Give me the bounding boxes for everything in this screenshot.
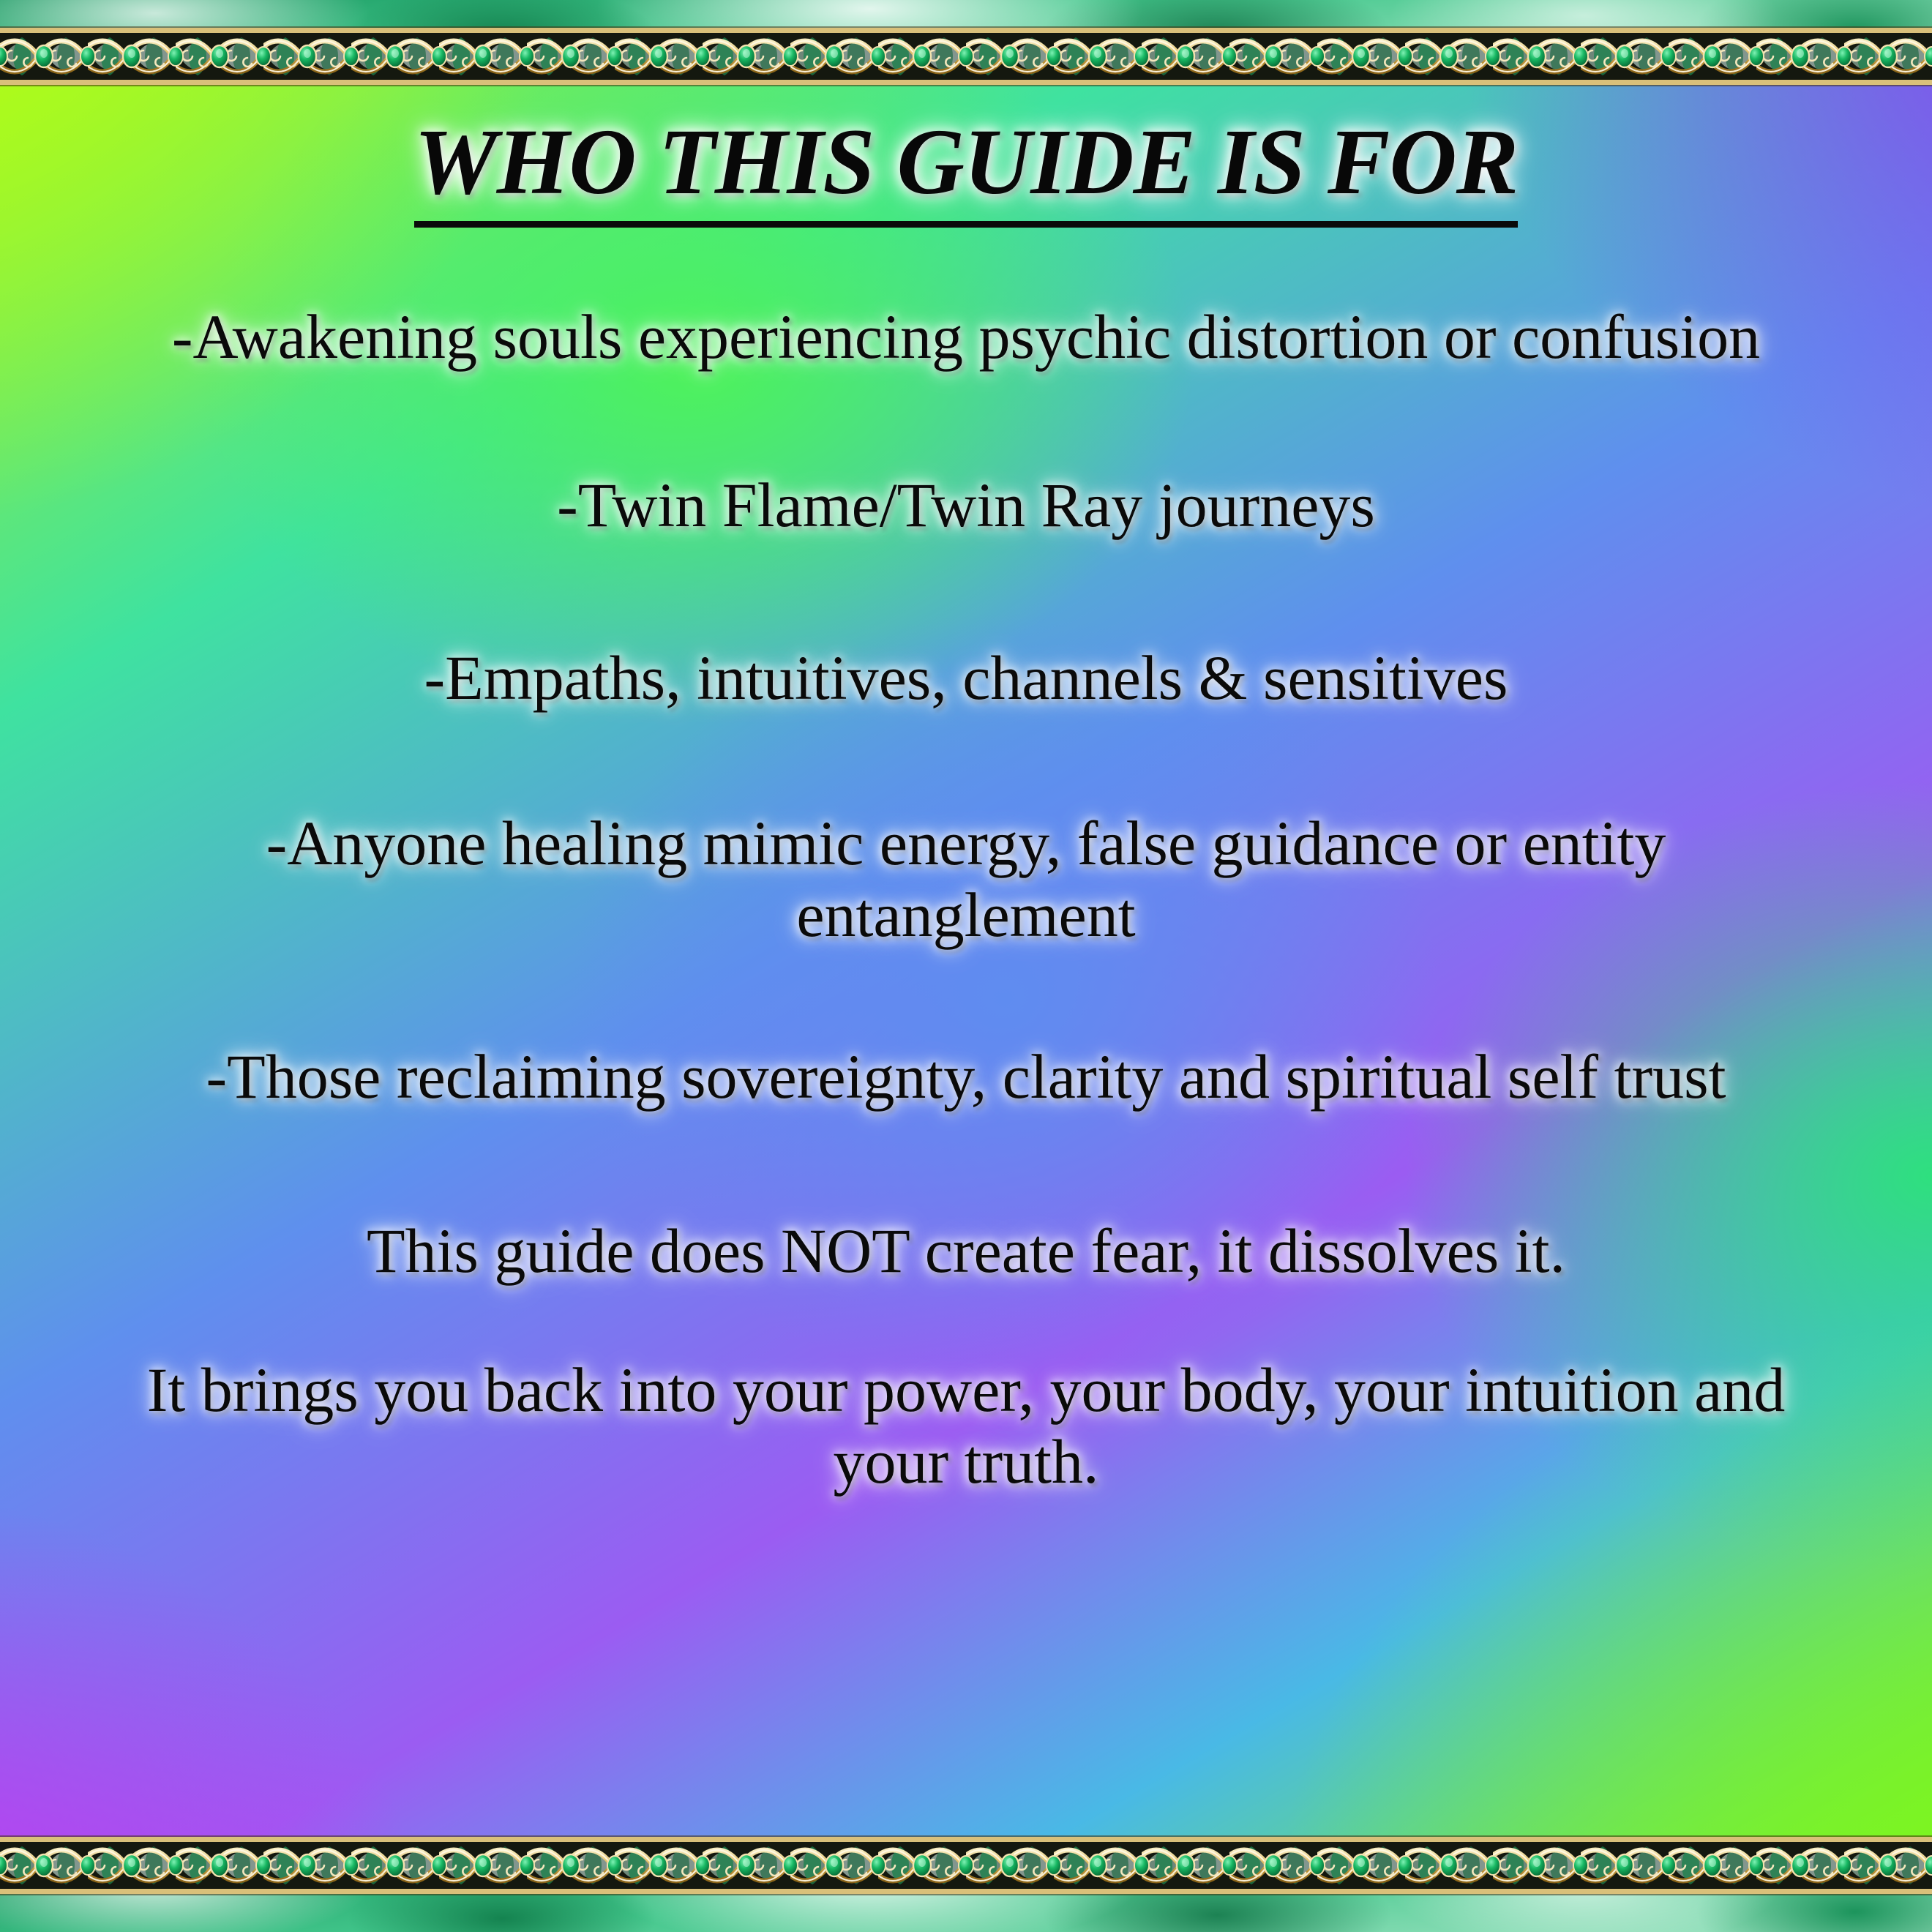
celtic-knot-icon-bottom	[0, 1842, 1932, 1889]
list-item: -Empaths, intuitives, channels & sensiti…	[91, 642, 1841, 714]
poster-content: WHO THIS GUIDE IS FOR -Awakening souls e…	[0, 78, 1932, 1850]
closing-line-1: This guide does NOT create fear, it diss…	[91, 1215, 1841, 1287]
poster-canvas: WHO THIS GUIDE IS FOR -Awakening souls e…	[0, 0, 1932, 1932]
page-title-text: WHO THIS GUIDE IS FOR	[414, 110, 1518, 228]
celtic-knot-border-top	[0, 28, 1932, 85]
audience-list: -Awakening souls experiencing psychic di…	[91, 301, 1841, 1112]
text-column: WHO THIS GUIDE IS FOR -Awakening souls e…	[91, 78, 1841, 1497]
page-title: WHO THIS GUIDE IS FOR	[91, 78, 1841, 214]
list-item: -Those reclaiming sovereignty, clarity a…	[91, 1041, 1841, 1112]
list-item: -Awakening souls experiencing psychic di…	[91, 301, 1841, 372]
celtic-knot-border-bottom	[0, 1837, 1932, 1894]
celtic-knot-icon-top	[0, 33, 1932, 80]
closing-line-2: It brings you back into your power, your…	[91, 1354, 1841, 1497]
list-item: -Twin Flame/Twin Ray journeys	[91, 469, 1841, 541]
closing-statements: This guide does NOT create fear, it diss…	[91, 1215, 1841, 1497]
list-item: -Anyone healing mimic energy, false guid…	[91, 807, 1841, 951]
